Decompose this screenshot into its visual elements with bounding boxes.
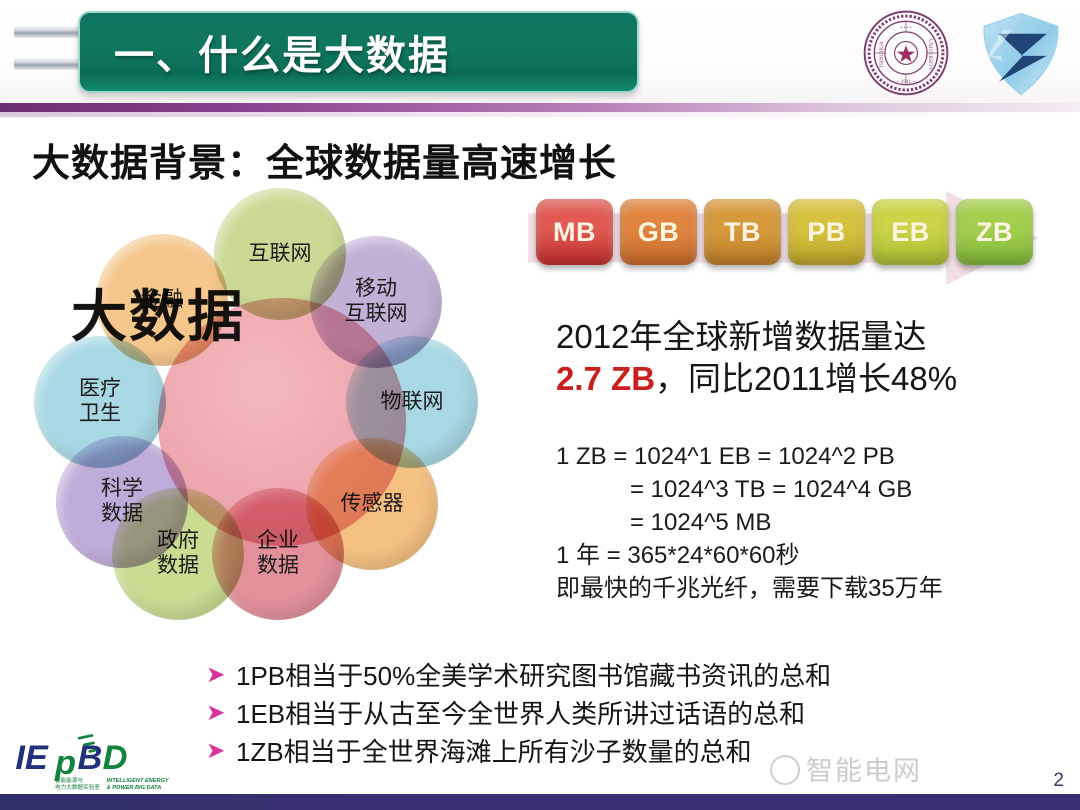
bullet-arrow-icon: ➤	[206, 739, 236, 762]
header-divider-shadow	[0, 112, 1080, 117]
venn-petal-label: 传感器	[341, 492, 404, 517]
big-data-venn-diagram: 大数据 互联网移动互联网物联网传感器企业数据政府数据科学数据医疗卫生金融	[34, 188, 524, 658]
bullet-text: 1EB相当于从古至今全世界人类所讲过话语的总和	[236, 694, 805, 731]
page-number: 2	[1053, 770, 1064, 792]
headline-line-2: 2.7 ZB，同比2011增长48%	[556, 358, 1076, 400]
unit-chip-label: MB	[553, 217, 596, 248]
unit-chip-label: GB	[638, 217, 680, 248]
data-unit-progression: MBGBTBPBEBZB	[528, 173, 1038, 295]
venn-petal-label: 金融	[141, 288, 183, 313]
headline-highlight-value: 2.7 ZB	[556, 360, 655, 397]
bullet-text: 1ZB相当于全世界海滩上所有沙子数量的总和	[236, 732, 752, 769]
bullet-list: ➤1PB相当于50%全美学术研究图书馆藏书资讯的总和➤1EB相当于从古至今全世界…	[206, 655, 1066, 769]
unit-chip-label: PB	[807, 217, 846, 248]
venn-petal-label: 互联网	[345, 302, 408, 327]
headline-line-1: 2012年全球新增数据量达	[556, 316, 1076, 358]
venn-petal-label: 互联网	[249, 242, 312, 267]
footer-bar	[0, 794, 1080, 810]
bullet-arrow-icon: ➤	[206, 663, 236, 686]
footer-logo-en-line2: & POWER BIG DATA	[107, 785, 162, 791]
venn-petal-label: 数据	[101, 502, 143, 527]
header-divider	[0, 103, 1080, 112]
venn-petal-label: 移动	[355, 277, 397, 302]
iepbd-logo-icon: IE p B D 智能能源与 电力大数据实验室 INTELLIGENT ENER…	[14, 730, 186, 792]
math-line: 1 ZB = 1024^1 EB = 1024^2 PB	[556, 440, 1076, 473]
math-line: 即最快的千兆光纤，需要下载35万年	[556, 572, 1076, 605]
svg-text:UNIVERSITY: UNIVERSITY	[927, 39, 933, 71]
venn-petal-label: 医疗	[79, 377, 121, 402]
unit-chip-list: MBGBTBPBEBZB	[536, 199, 1033, 265]
unit-chip-eb: EB	[872, 199, 949, 265]
tsinghua-university-seal-icon: • • • • ~ 1911 ~ TSINGHUA UNIVERSITY	[862, 9, 950, 97]
venn-petal-label: 物联网	[381, 390, 444, 415]
svg-text:p: p	[54, 744, 76, 782]
unit-chip-zb: ZB	[956, 199, 1033, 265]
bullet-text: 1PB相当于50%全美学术研究图书馆藏书资讯的总和	[236, 656, 831, 693]
footer-logo-en-line1: INTELLIGENT ENERGY	[107, 778, 170, 784]
bullet-item: ➤1EB相当于从古至今全世界人类所讲过话语的总和	[206, 693, 1066, 731]
unit-chip-label: ZB	[976, 217, 1013, 248]
unit-chip-label: TB	[724, 217, 761, 248]
svg-text:TSINGHUA: TSINGHUA	[879, 41, 885, 68]
page-title: 一、什么是大数据	[114, 23, 450, 81]
venn-petal-label: 数据	[257, 554, 299, 579]
headline-block: 2012年全球新增数据量达 2.7 ZB，同比2011增长48%	[556, 316, 1076, 400]
math-line: = 1024^3 TB = 1024^4 GB	[556, 473, 1076, 506]
unit-conversion-block: 1 ZB = 1024^1 EB = 1024^2 PB = 1024^3 TB…	[556, 440, 1076, 606]
venn-petal: 金融	[96, 234, 228, 366]
unit-chip-label: EB	[891, 217, 930, 248]
unit-chip-tb: TB	[704, 199, 781, 265]
venn-petal-label: 卫生	[79, 402, 121, 427]
unit-chip-pb: PB	[788, 199, 865, 265]
venn-petal-label: 科学	[101, 477, 143, 502]
venn-petal-label: 企业	[257, 529, 299, 554]
header-band: 一、什么是大数据 • • • • ~ 1911 ~ TSINGHUA UNIVE…	[0, 0, 1080, 108]
math-line: = 1024^5 MB	[556, 506, 1076, 539]
svg-text:D: D	[103, 739, 128, 777]
venn-petal-label: 数据	[157, 554, 199, 579]
slide-title-plate: 一、什么是大数据	[78, 11, 639, 93]
math-line: 1 年 = 365*24*60*60秒	[556, 539, 1076, 572]
unit-chip-mb: MB	[536, 199, 613, 265]
headline-line-2-rest: ，同比2011增长48%	[655, 360, 957, 397]
energy-shield-logo-icon	[975, 8, 1067, 100]
unit-chip-gb: GB	[620, 199, 697, 265]
svg-text:IE: IE	[15, 739, 49, 777]
slide-canvas: 一、什么是大数据 • • • • ~ 1911 ~ TSINGHUA UNIVE…	[0, 0, 1080, 810]
bullet-item: ➤1ZB相当于全世界海滩上所有沙子数量的总和	[206, 731, 1066, 769]
bullet-item: ➤1PB相当于50%全美学术研究图书馆藏书资讯的总和	[206, 655, 1066, 693]
bullet-arrow-icon: ➤	[206, 701, 236, 724]
